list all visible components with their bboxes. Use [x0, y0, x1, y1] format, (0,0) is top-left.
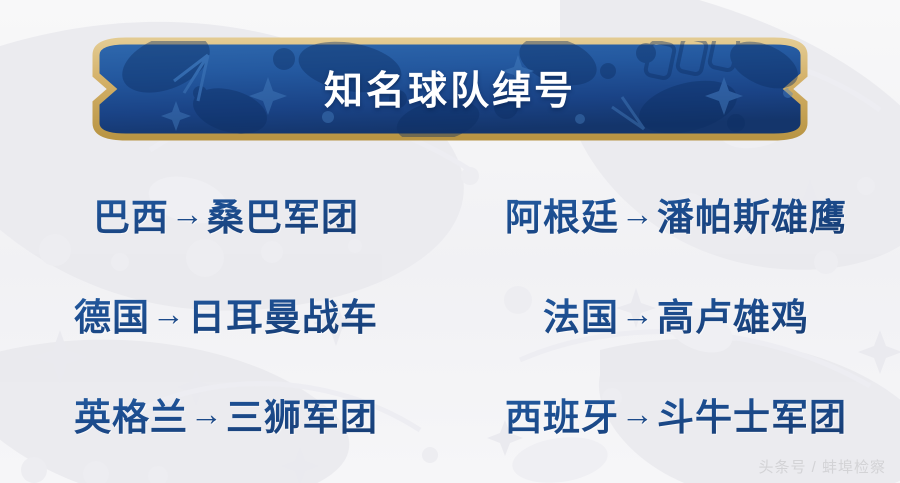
team-nickname: 三狮军团 — [226, 387, 378, 441]
page-title: 知名球队绰号 — [88, 37, 812, 141]
nickname-entry-france: 法国 → 高卢雄鸡 — [452, 287, 900, 341]
table-row: 英格兰 → 三狮军团 西班牙 → 斗牛士军团 — [0, 364, 900, 464]
team-name: 阿根廷 — [505, 187, 619, 241]
nickname-entry-germany: 德国 → 日耳曼战车 — [0, 287, 452, 341]
arrow-icon: → — [619, 195, 657, 233]
arrow-icon: → — [619, 395, 657, 433]
team-name: 英格兰 — [74, 387, 188, 441]
nickname-entry-argentina: 阿根廷 → 潘帕斯雄鹰 — [452, 187, 900, 241]
arrow-icon: → — [169, 195, 207, 233]
arrow-icon: → — [188, 395, 226, 433]
nickname-table: 巴西 → 桑巴军团 阿根廷 → 潘帕斯雄鹰 德国 → 日耳曼战车 法国 → 高卢… — [0, 164, 900, 464]
table-row: 巴西 → 桑巴军团 阿根廷 → 潘帕斯雄鹰 — [0, 164, 900, 264]
header-banner: 知名球队绰号 — [88, 37, 812, 141]
arrow-icon: → — [150, 295, 188, 333]
table-row: 德国 → 日耳曼战车 法国 → 高卢雄鸡 — [0, 264, 900, 364]
nickname-entry-england: 英格兰 → 三狮军团 — [0, 387, 452, 441]
team-name: 巴西 — [93, 187, 169, 241]
poster-canvas: 知名球队绰号 巴西 → 桑巴军团 阿根廷 → 潘帕斯雄鹰 德国 → 日耳曼战车 … — [0, 0, 900, 483]
team-nickname: 潘帕斯雄鹰 — [657, 187, 847, 241]
team-nickname: 斗牛士军团 — [657, 387, 847, 441]
watermark: 头条号 / 蚌埠检察 — [758, 456, 886, 477]
nickname-entry-brazil: 巴西 → 桑巴军团 — [0, 187, 452, 241]
team-nickname: 桑巴军团 — [207, 187, 359, 241]
team-nickname: 日耳曼战车 — [188, 287, 378, 341]
arrow-icon: → — [619, 295, 657, 333]
team-nickname: 高卢雄鸡 — [657, 287, 809, 341]
team-name: 法国 — [543, 287, 619, 341]
nickname-entry-spain: 西班牙 → 斗牛士军团 — [452, 387, 900, 441]
team-name: 德国 — [74, 287, 150, 341]
team-name: 西班牙 — [505, 387, 619, 441]
